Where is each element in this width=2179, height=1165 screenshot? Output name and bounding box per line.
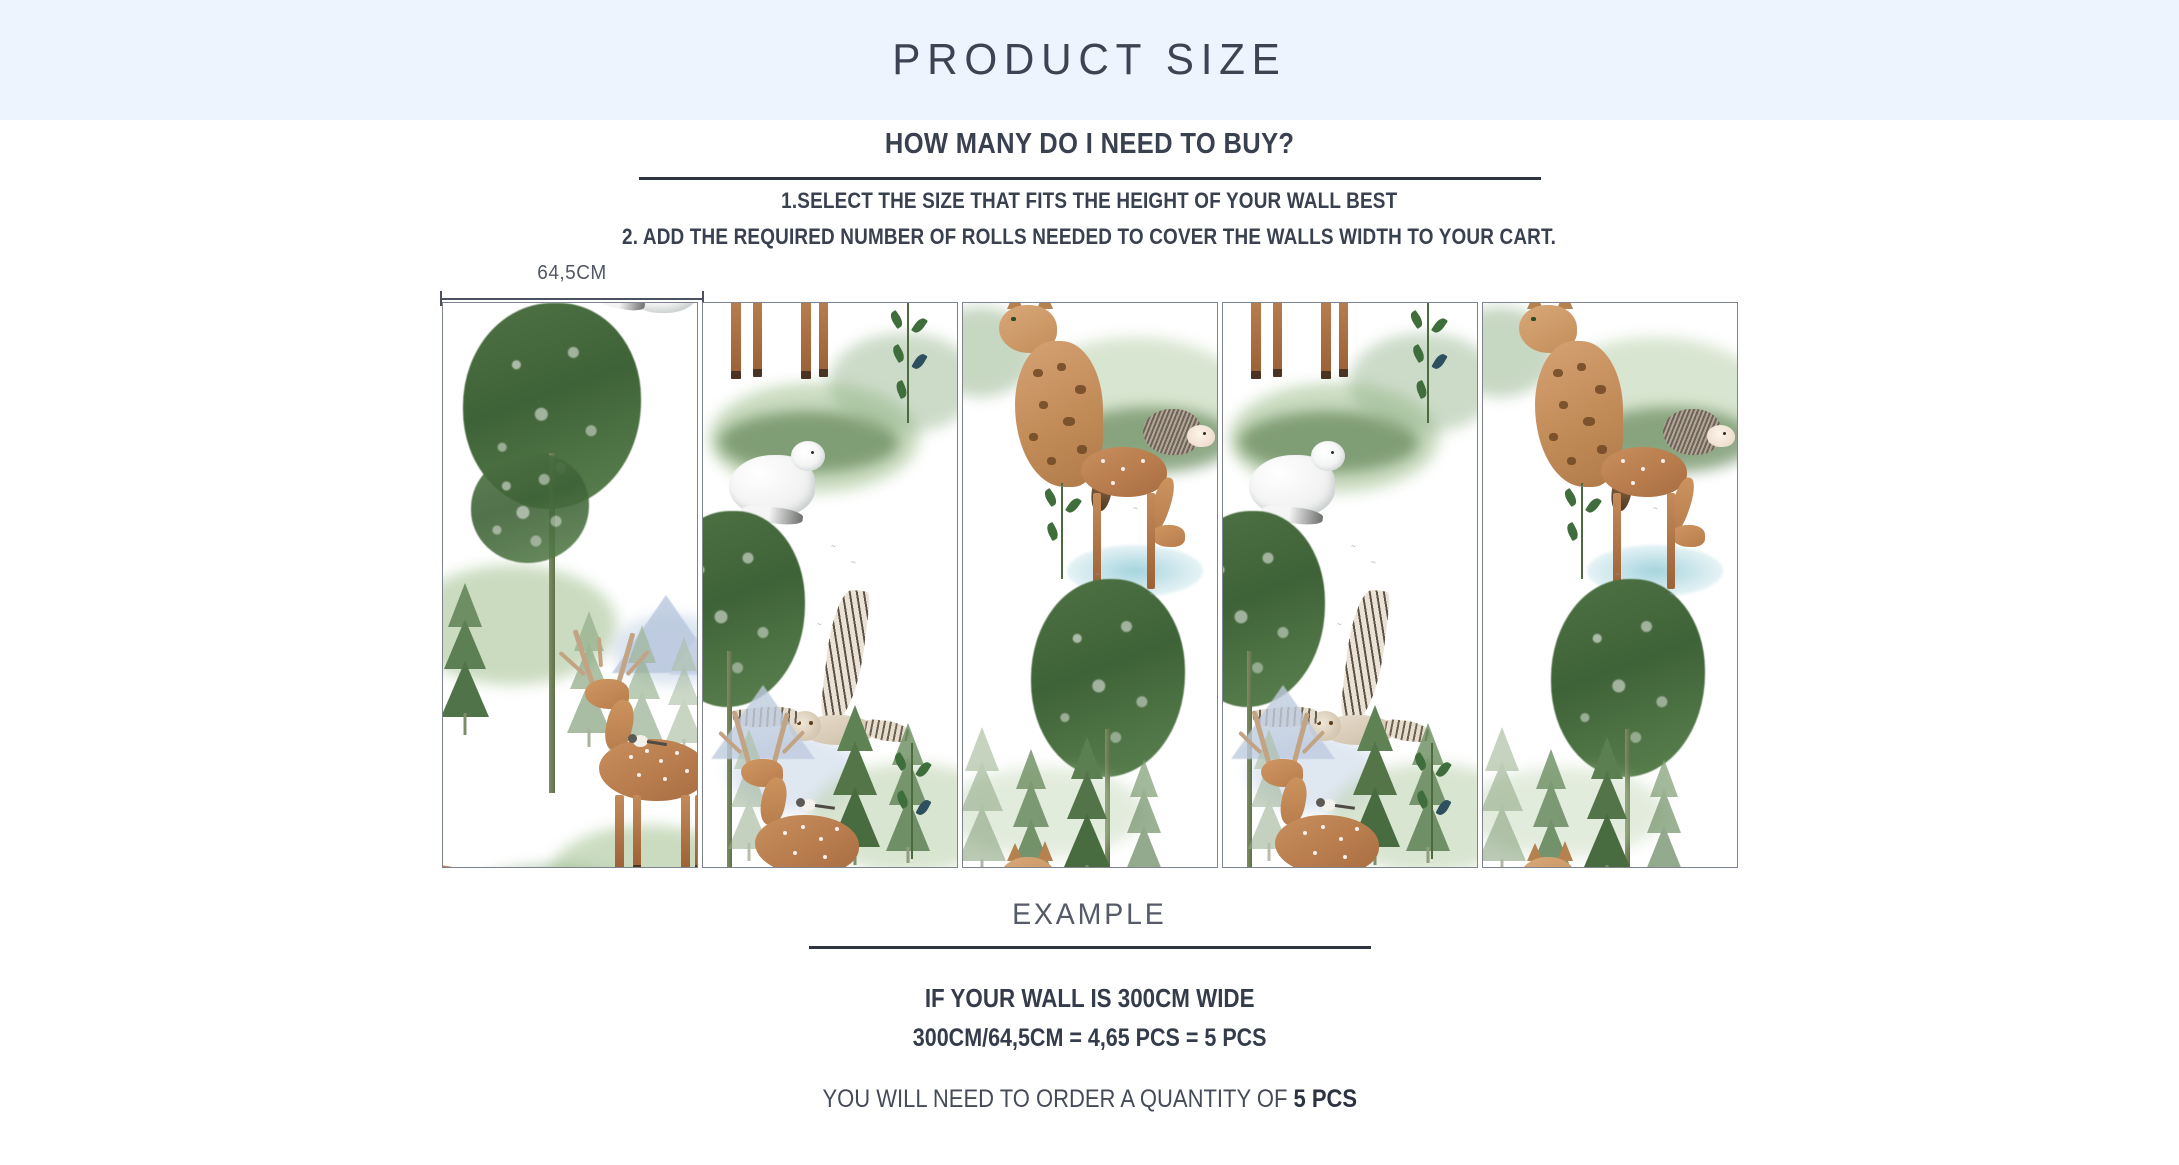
wallpaper-panel-5[interactable] <box>1482 302 1738 868</box>
example-order-prefix: YOU WILL NEED TO ORDER A QUANTITY OF <box>822 1085 1293 1113</box>
instruction-step-1: 1.SELECT THE SIZE THAT FITS THE HEIGHT O… <box>781 188 1397 214</box>
page-header: PRODUCT SIZE <box>0 0 2179 120</box>
panel-artwork <box>1223 303 1478 868</box>
page-title: PRODUCT SIZE <box>892 35 1286 85</box>
panel-artwork <box>1483 303 1738 868</box>
example-wall-width: IF YOUR WALL IS 300CM WIDE <box>925 983 1255 1014</box>
instructions-title: HOW MANY DO I NEED TO BUY? <box>885 128 1294 161</box>
product-size-page: PRODUCT SIZE HOW MANY DO I NEED TO BUY? … <box>0 0 2179 1165</box>
example-calculation: 300CM/64,5CM = 4,65 PCS = 5 PCS <box>913 1024 1267 1053</box>
example-order-quantity: YOU WILL NEED TO ORDER A QUANTITY OF 5 P… <box>822 1085 1357 1114</box>
example-title: EXAMPLE <box>1012 898 1167 932</box>
panel-artwork <box>443 303 698 868</box>
wallpaper-panel-3[interactable] <box>962 302 1218 868</box>
instruction-step-2: 2. ADD THE REQUIRED NUMBER OF ROLLS NEED… <box>622 224 1556 250</box>
wallpaper-panel-4[interactable] <box>1222 302 1478 868</box>
wallpaper-panel-strip <box>442 302 1738 868</box>
wallpaper-panel-1[interactable] <box>442 302 698 868</box>
example-block: EXAMPLE IF YOUR WALL IS 300CM WIDE 300CM… <box>0 898 2179 1114</box>
panel-artwork <box>703 303 958 868</box>
wallpaper-panel-2[interactable] <box>702 302 958 868</box>
dimension-label: 64,5CM <box>447 262 698 285</box>
roll-width-dimension: 64,5CM <box>440 262 704 305</box>
example-order-bold: 5 PCS <box>1293 1085 1357 1113</box>
instructions-block: HOW MANY DO I NEED TO BUY? 1.SELECT THE … <box>0 128 2179 250</box>
panel-artwork <box>963 303 1218 868</box>
